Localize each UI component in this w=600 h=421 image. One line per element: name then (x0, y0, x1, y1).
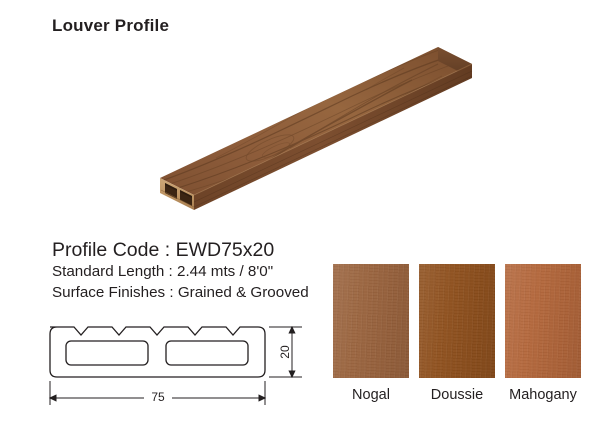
width-dimension: 75 (50, 381, 265, 405)
swatch-nogal-chip[interactable] (333, 264, 409, 378)
standard-length-label: Standard Length (52, 263, 164, 280)
profile-code-label: Profile Code (52, 239, 159, 261)
color-swatch-panel: Nogal Doussie Mahogany (333, 264, 583, 404)
swatch-mahogany-grain (505, 264, 581, 378)
profile-outline (50, 327, 265, 377)
chamber-left (66, 341, 148, 365)
swatch-mahogany-label: Mahogany (505, 387, 581, 403)
surface-finishes-label: Surface Finishes (52, 284, 165, 301)
standard-length-row: Standard Length : 2.44 mts / 8'0" (52, 262, 342, 283)
cross-section-drawing: 20 75 (40, 313, 330, 413)
height-dimension: 20 (269, 327, 302, 377)
plank-front-edge (194, 64, 472, 210)
surface-finishes-row: Surface Finishes : Grained & Grooved (52, 283, 342, 304)
swatch-nogal-grain (333, 264, 409, 378)
chamber-right (166, 341, 248, 365)
width-dimension-label: 75 (151, 390, 165, 404)
swatch-doussie[interactable]: Doussie (419, 264, 495, 403)
swatch-doussie-chip[interactable] (419, 264, 495, 378)
standard-length-separator: : (169, 263, 173, 280)
swatch-doussie-label: Doussie (419, 387, 495, 403)
swatch-doussie-grain (419, 264, 495, 378)
profile-code-separator: : (165, 239, 170, 261)
plank-edge-highlight (194, 64, 472, 195)
swatch-mahogany[interactable]: Mahogany (505, 264, 581, 403)
surface-finishes-separator: : (169, 284, 173, 301)
specification-block: Profile Code : EWD75x20 Standard Length … (52, 238, 342, 303)
profile-code-value: EWD75x20 (176, 239, 275, 261)
height-dimension-label: 20 (278, 345, 292, 359)
product-render-plank (120, 30, 480, 230)
standard-length-value: 2.44 mts / 8'0" (177, 263, 273, 280)
surface-finishes-value: Grained & Grooved (178, 284, 309, 301)
swatch-mahogany-chip[interactable] (505, 264, 581, 378)
swatch-nogal-label: Nogal (333, 387, 409, 403)
profile-code-line: Profile Code : EWD75x20 (52, 238, 342, 262)
plank-top-face (160, 47, 472, 195)
swatch-nogal[interactable]: Nogal (333, 264, 409, 403)
